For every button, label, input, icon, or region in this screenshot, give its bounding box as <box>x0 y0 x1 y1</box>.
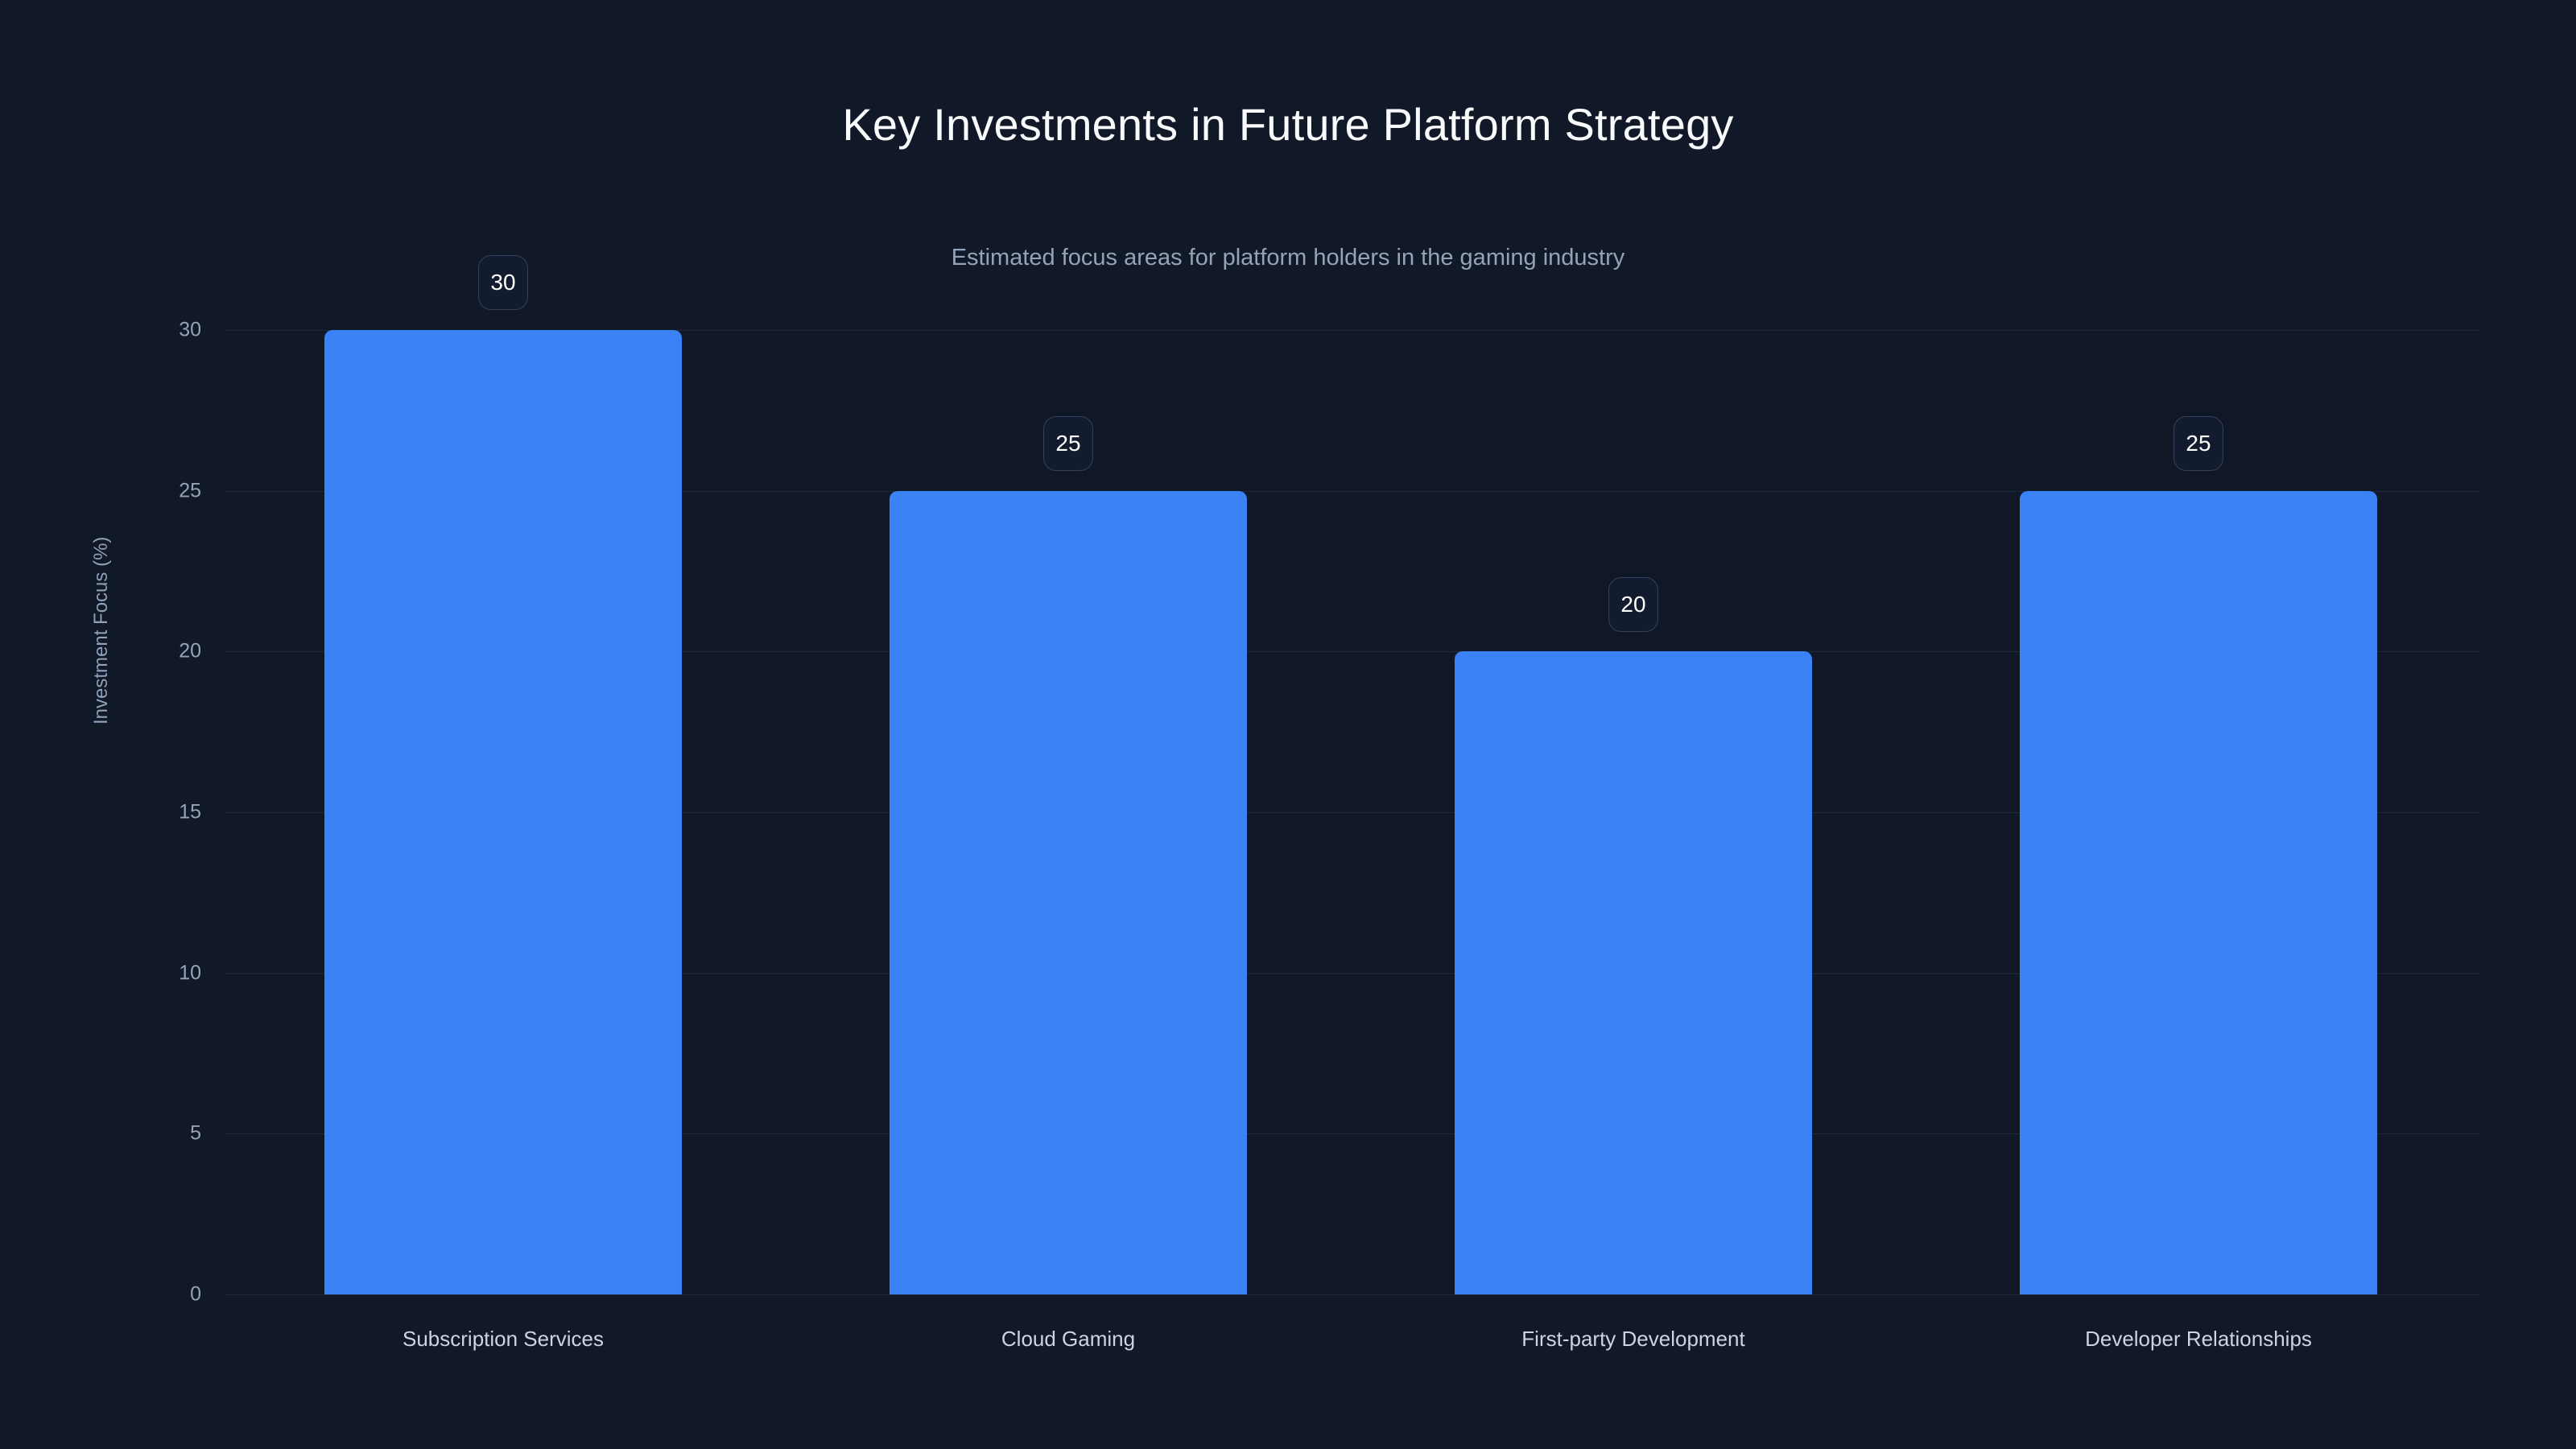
y-tick-label-25: 25 <box>113 480 201 503</box>
value-badge-subscription-services: 30 <box>478 255 528 310</box>
chart-title: Key Investments in Future Platform Strat… <box>0 98 2576 151</box>
chart-subtitle: Estimated focus areas for platform holde… <box>0 245 2576 271</box>
y-tick-label-0: 0 <box>113 1283 201 1307</box>
bar-subscription-services[interactable] <box>324 330 682 1294</box>
value-badge-developer-relationships: 25 <box>2173 416 2223 471</box>
bar-chart: Key Investments in Future Platform Strat… <box>0 0 2576 1449</box>
y-tick-label-5: 5 <box>113 1122 201 1146</box>
y-tick-label-15: 15 <box>113 801 201 824</box>
bar-first-party-development[interactable] <box>1455 651 1812 1294</box>
y-axis-title: Investment Focus (%) <box>90 537 113 724</box>
x-tick-label-subscription-services: Subscription Services <box>402 1327 604 1352</box>
y-tick-label-20: 20 <box>113 640 201 663</box>
x-tick-label-developer-relationships: Developer Relationships <box>2085 1327 2312 1352</box>
bar-cloud-gaming[interactable] <box>890 491 1247 1294</box>
value-badge-cloud-gaming: 25 <box>1043 416 1093 471</box>
x-tick-label-cloud-gaming: Cloud Gaming <box>1001 1327 1135 1352</box>
value-badge-first-party-development: 20 <box>1608 577 1658 632</box>
y-tick-label-10: 10 <box>113 962 201 985</box>
y-tick-label-30: 30 <box>113 319 201 342</box>
gridline-0 <box>225 1294 2479 1295</box>
bar-developer-relationships[interactable] <box>2020 491 2377 1294</box>
x-tick-label-first-party-development: First-party Development <box>1521 1327 1744 1352</box>
